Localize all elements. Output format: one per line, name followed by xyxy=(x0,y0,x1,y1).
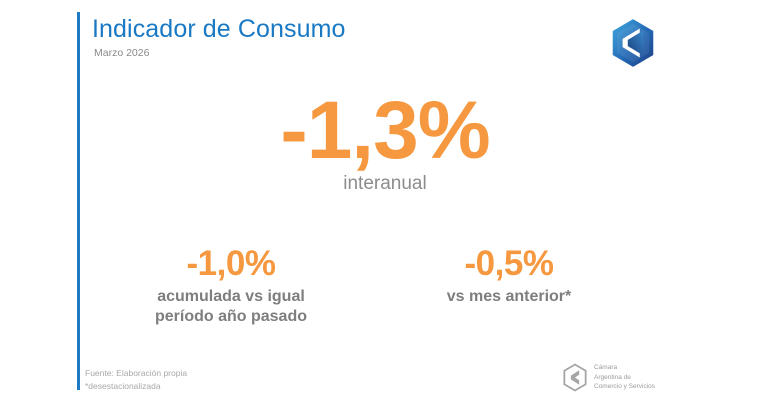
page-subtitle-period: Marzo 2026 xyxy=(94,48,346,60)
institution-logo: Cámara Argentina de Comercio y Servicios xyxy=(562,363,655,392)
hero-stat-value: -1,3% xyxy=(0,92,770,170)
stat-monthly: -0,5% vs mes anterior* xyxy=(370,246,648,307)
indicator-slide: Indicador de Consumo Marzo 2026 xyxy=(0,0,770,414)
secondary-stats-row: -1,0% acumulada vs igual período año pas… xyxy=(92,246,648,327)
hexagon-chevron-mark-icon xyxy=(562,363,588,392)
stat-monthly-value: -0,5% xyxy=(370,246,648,283)
stat-accumulated-value: -1,0% xyxy=(92,246,370,283)
institution-name-line3: Comercio y Servicios xyxy=(594,382,655,392)
stat-accumulated-label: acumulada vs igual período año pasado xyxy=(92,287,370,327)
institution-name-line2: Argentina de xyxy=(594,373,655,383)
stat-monthly-label: vs mes anterior* xyxy=(370,287,648,307)
stat-accumulated: -1,0% acumulada vs igual período año pas… xyxy=(92,246,370,327)
hero-stat-label: interanual xyxy=(0,174,770,195)
footnote-source-line: Fuente: Elaboración propia xyxy=(85,367,187,379)
stat-accumulated-label-line2: período año pasado xyxy=(92,307,370,327)
hexagon-chevron-logo-icon xyxy=(607,17,659,69)
stat-monthly-label-line1: vs mes anterior* xyxy=(370,287,648,307)
left-accent-bar xyxy=(77,12,80,390)
institution-logo-text: Cámara Argentina de Comercio y Servicios xyxy=(594,363,655,392)
slide-header: Indicador de Consumo Marzo 2026 xyxy=(92,14,346,60)
stat-accumulated-label-line1: acumulada vs igual xyxy=(92,287,370,307)
footnote-note-line: *desestacionalizada xyxy=(85,380,187,392)
footnote-source: Fuente: Elaboración propia *desestaciona… xyxy=(85,367,187,392)
institution-name-line1: Cámara xyxy=(594,363,655,373)
hero-stat: -1,3% interanual xyxy=(0,92,770,195)
page-title: Indicador de Consumo xyxy=(92,14,346,44)
